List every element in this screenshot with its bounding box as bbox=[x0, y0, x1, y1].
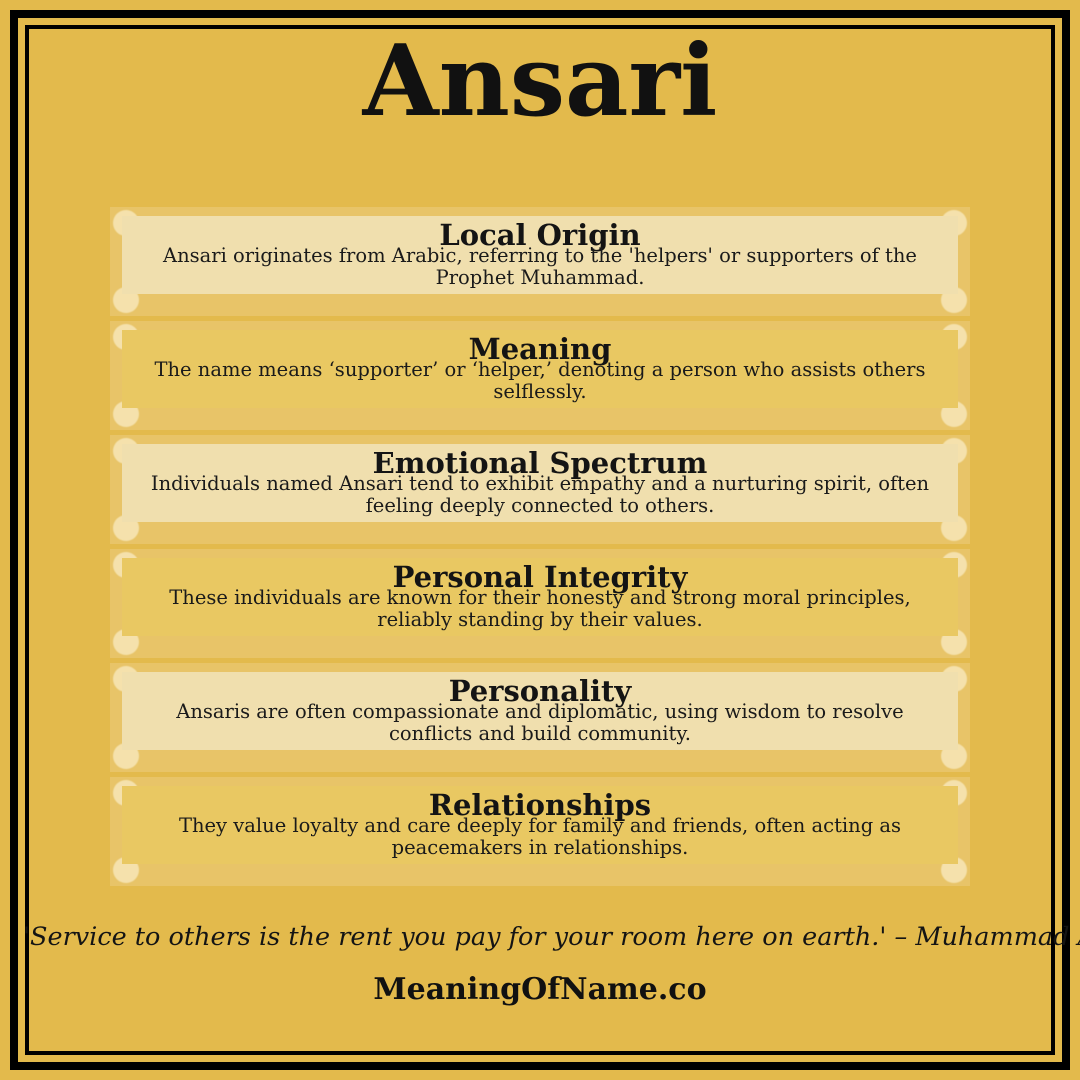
card-body: These individuals are known for their ho… bbox=[136, 587, 944, 631]
info-card-list: Local OriginAnsari originates from Arabi… bbox=[110, 207, 970, 891]
footer-brand: MeaningOfName.co bbox=[29, 975, 1051, 1005]
info-card: Emotional SpectrumIndividuals named Ansa… bbox=[110, 435, 970, 544]
card-inner-panel: Local OriginAnsari originates from Arabi… bbox=[122, 216, 958, 294]
footer-quote: 'Service to others is the rent you pay f… bbox=[23, 925, 1057, 951]
card-body: Individuals named Ansari tend to exhibit… bbox=[136, 473, 944, 517]
page-title: Ansari bbox=[29, 33, 1051, 131]
card-inner-panel: PersonalityAnsaris are often compassiona… bbox=[122, 672, 958, 750]
info-card: MeaningThe name means ‘supporter’ or ‘he… bbox=[110, 321, 970, 430]
card-body: Ansaris are often compassionate and dipl… bbox=[136, 701, 944, 745]
card-inner-panel: Emotional SpectrumIndividuals named Ansa… bbox=[122, 444, 958, 522]
card-inner-panel: Personal IntegrityThese individuals are … bbox=[122, 558, 958, 636]
info-card: RelationshipsThey value loyalty and care… bbox=[110, 777, 970, 886]
info-card: PersonalityAnsaris are often compassiona… bbox=[110, 663, 970, 772]
info-card: Local OriginAnsari originates from Arabi… bbox=[110, 207, 970, 316]
card-body: They value loyalty and care deeply for f… bbox=[136, 815, 944, 859]
info-card: Personal IntegrityThese individuals are … bbox=[110, 549, 970, 658]
card-inner-panel: RelationshipsThey value loyalty and care… bbox=[122, 786, 958, 864]
card-body: The name means ‘supporter’ or ‘helper,’ … bbox=[136, 359, 944, 403]
poster-canvas: Ansari Local OriginAnsari originates fro… bbox=[0, 0, 1080, 1080]
card-inner-panel: MeaningThe name means ‘supporter’ or ‘he… bbox=[122, 330, 958, 408]
poster-content: Ansari Local OriginAnsari originates fro… bbox=[29, 29, 1051, 1051]
card-body: Ansari originates from Arabic, referring… bbox=[136, 245, 944, 289]
